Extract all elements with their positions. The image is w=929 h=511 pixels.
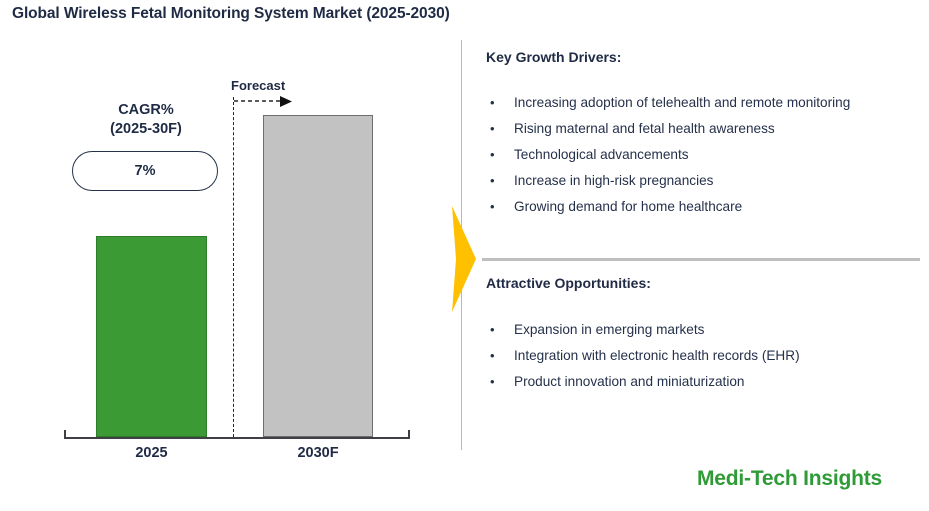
list-item: • Rising maternal and fetal health aware… <box>486 116 922 142</box>
list-item: • Increasing adoption of telehealth and … <box>486 90 922 116</box>
bullet-icon: • <box>490 343 495 369</box>
opportunities-bullet-list: • Expansion in emerging markets • Integr… <box>486 317 922 395</box>
drivers-heading: Key Growth Drivers: <box>486 49 621 65</box>
bullet-icon: • <box>490 116 495 142</box>
chart-panel: CAGR% (2025-30F) 7% Forecast 2025 2030F <box>0 34 450 474</box>
bar-2025 <box>96 236 207 437</box>
list-item: • Technological advancements <box>486 142 922 168</box>
list-item: • Integration with electronic health rec… <box>486 343 922 369</box>
opportunities-heading: Attractive Opportunities: <box>486 275 651 291</box>
dashed-arrow-right-icon <box>234 96 296 108</box>
list-item-label: Product innovation and miniaturization <box>514 374 744 389</box>
drivers-bullet-list: • Increasing adoption of telehealth and … <box>486 90 922 220</box>
cagr-pill: 7% <box>72 151 218 191</box>
list-item-label: Technological advancements <box>514 147 689 162</box>
list-item-label: Growing demand for home healthcare <box>514 199 742 214</box>
bar-2030f <box>263 115 373 437</box>
x-axis-label-2025: 2025 <box>96 445 207 461</box>
bullet-icon: • <box>490 168 495 194</box>
x-axis-label-2030f: 2030F <box>263 445 373 461</box>
cagr-label: CAGR% (2025-30F) <box>72 101 220 139</box>
cagr-label-line1: CAGR% <box>118 102 174 118</box>
list-item: • Product innovation and miniaturization <box>486 369 922 395</box>
bullet-icon: • <box>490 90 495 116</box>
list-item-label: Expansion in emerging markets <box>514 322 704 337</box>
brand-logo: Medi-Tech Insights <box>697 467 882 491</box>
chevron-right-icon <box>450 206 476 312</box>
forecast-dashed-divider <box>233 97 234 437</box>
section-horizontal-divider <box>482 258 920 261</box>
x-axis-line <box>64 437 410 439</box>
x-axis-tick-right <box>408 430 410 438</box>
bullet-icon: • <box>490 369 495 395</box>
x-axis-tick-left <box>64 430 66 438</box>
list-item-label: Increasing adoption of telehealth and re… <box>514 95 850 110</box>
cagr-label-line2: (2025-30F) <box>72 120 220 139</box>
bullet-icon: • <box>490 317 495 343</box>
list-item-label: Integration with electronic health recor… <box>514 348 800 363</box>
bullet-icon: • <box>490 194 495 220</box>
list-item-label: Rising maternal and fetal health awarene… <box>514 121 775 136</box>
bullet-icon: • <box>490 142 495 168</box>
page-title: Global Wireless Fetal Monitoring System … <box>12 5 450 23</box>
list-item-label: Increase in high-risk pregnancies <box>514 173 713 188</box>
cagr-value: 7% <box>135 163 156 179</box>
list-item: • Expansion in emerging markets <box>486 317 922 343</box>
list-item: • Growing demand for home healthcare <box>486 194 922 220</box>
list-item: • Increase in high-risk pregnancies <box>486 168 922 194</box>
forecast-label: Forecast <box>231 78 285 93</box>
